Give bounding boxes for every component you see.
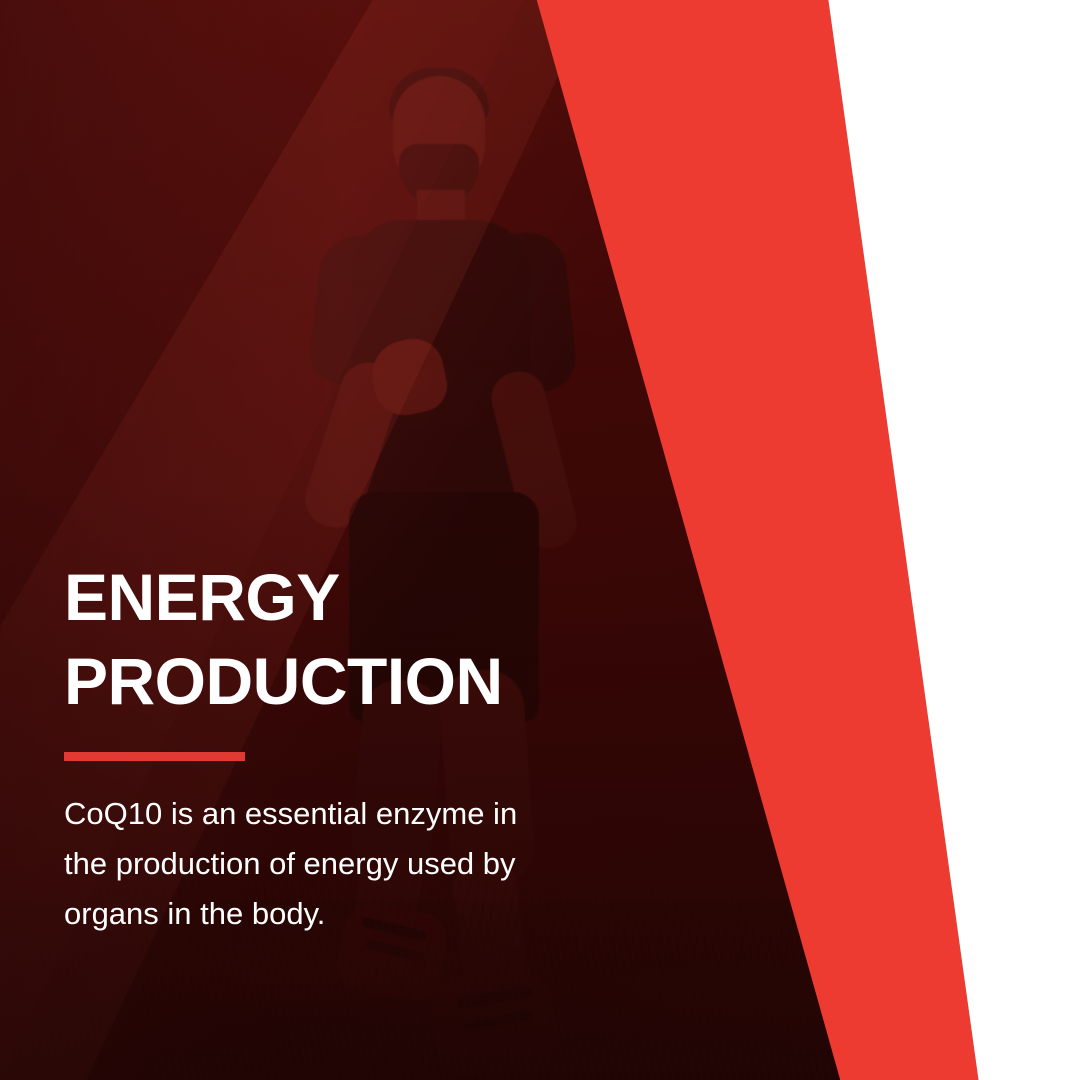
page-title: ENERGY PRODUCTION [64, 556, 564, 724]
body-paragraph: CoQ10 is an essential enzyme in the prod… [64, 789, 542, 940]
accent-divider [64, 752, 245, 761]
copy-block: ENERGY PRODUCTION CoQ10 is an essential … [64, 556, 564, 939]
headline-line-1: ENERGY [64, 556, 564, 640]
headline-line-2: PRODUCTION [64, 640, 564, 724]
poster-canvas: ENERGY PRODUCTION CoQ10 is an essential … [0, 0, 1080, 1080]
